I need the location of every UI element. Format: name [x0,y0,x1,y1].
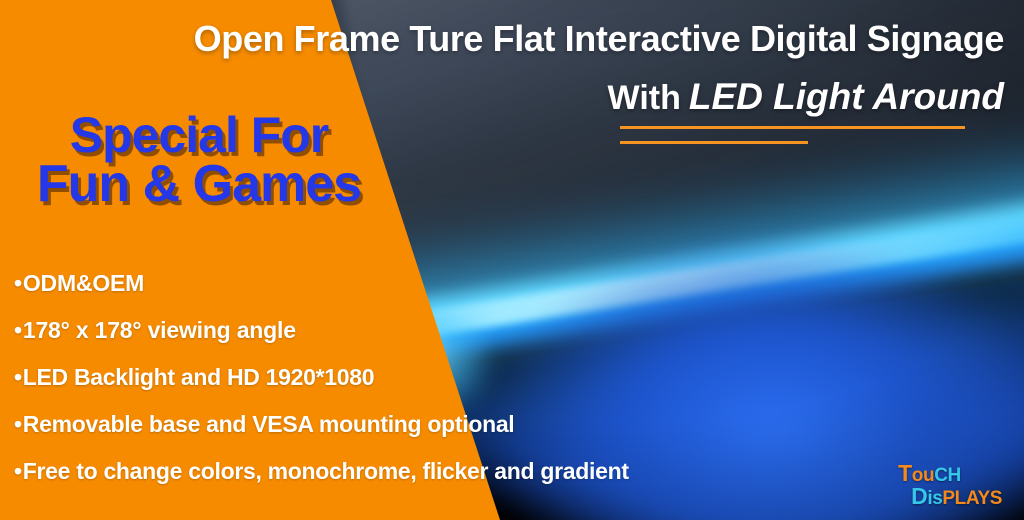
bullet-marker-icon: • [14,364,22,390]
logo-letter: T [898,460,912,486]
bullet-marker-icon: • [14,317,22,343]
special-heading-line-2: Fun & Games [24,160,374,209]
list-item-label: Removable base and VESA mounting optiona… [23,411,515,437]
special-heading: Special For Fun & Games [24,112,374,209]
list-item: •LED Backlight and HD 1920*1080 [14,366,714,389]
brand-logo-line-1: TouCH [898,462,1002,485]
headline-line-1: Open Frame Ture Flat Interactive Digital… [0,18,1004,60]
headline-line-2-prefix: With [608,79,681,117]
list-item: •Free to change colors, monochrome, flic… [14,460,714,483]
list-item: •ODM&OEM [14,272,714,295]
brand-logo-line-2: DisPLAYS [898,485,1002,508]
content-layer: Open Frame Ture Flat Interactive Digital… [0,0,1024,520]
logo-letter: PLAYS [942,488,1002,509]
bullet-marker-icon: • [14,458,22,484]
bullet-marker-icon: • [14,411,22,437]
accent-rule-long [620,126,965,129]
logo-letter: is [927,488,942,509]
list-item: •178° x 178° viewing angle [14,319,714,342]
brand-logo: TouCH DisPLAYS [898,462,1002,508]
promo-banner: Open Frame Ture Flat Interactive Digital… [0,0,1024,520]
list-item-label: Free to change colors, monochrome, flick… [23,458,629,484]
list-item-label: LED Backlight and HD 1920*1080 [23,364,374,390]
feature-bullet-list: •ODM&OEM •178° x 178° viewing angle •LED… [14,272,714,507]
headline-line-2-emphasis: LED Light Around [681,76,1004,117]
list-item-label: 178° x 178° viewing angle [23,317,296,343]
accent-rule-short [620,141,808,144]
logo-letter: D [911,483,927,509]
list-item-label: ODM&OEM [23,270,144,296]
list-item: •Removable base and VESA mounting option… [14,413,714,436]
logo-letter: CH [934,465,961,486]
bullet-marker-icon: • [14,270,22,296]
